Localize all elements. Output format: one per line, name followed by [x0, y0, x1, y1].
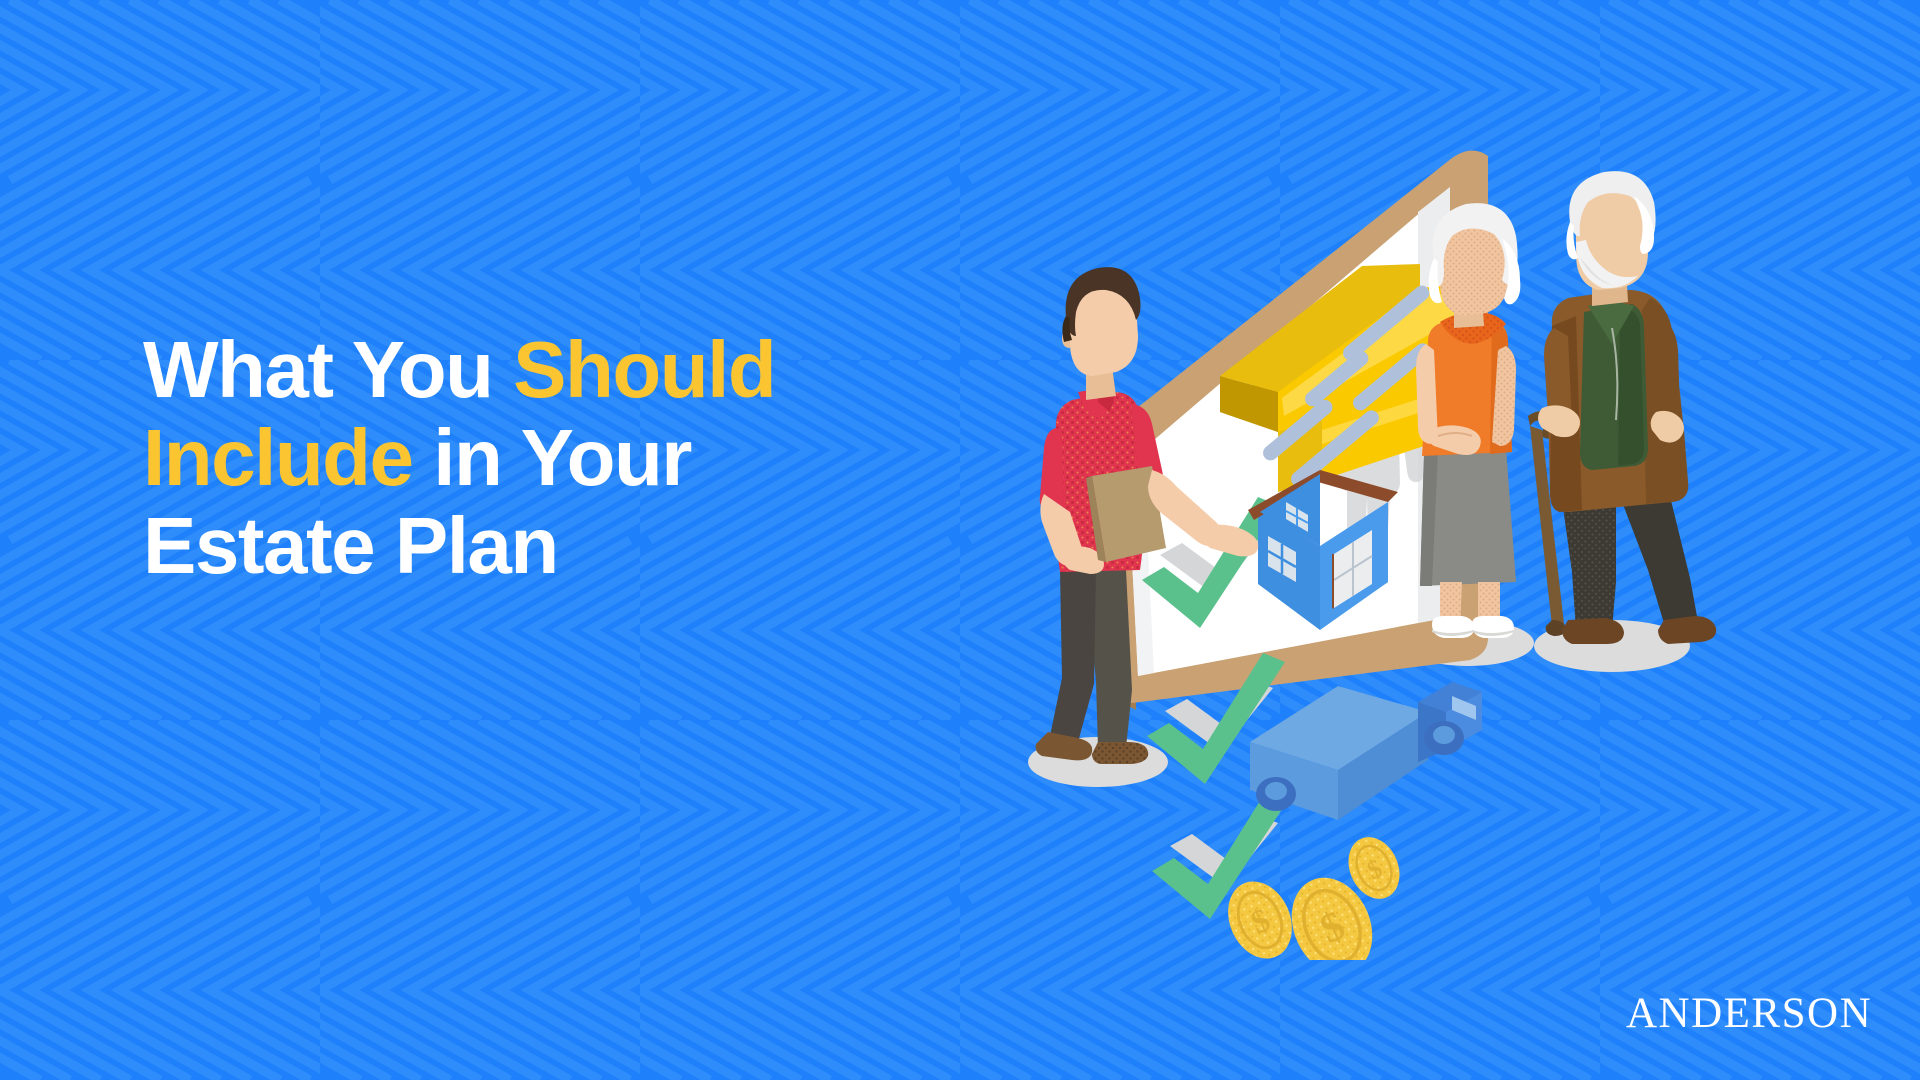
headline-seg-accent: Should — [513, 325, 775, 414]
headline-seg-white: in Your — [413, 413, 691, 502]
headline-seg-white: Estate Plan — [143, 501, 558, 590]
brand-logo: ANDERSON — [1626, 992, 1872, 1035]
headline-line-2: Include in Your — [143, 418, 903, 498]
truck-icon — [1250, 682, 1482, 820]
estate-planning-illustration: $ $ $ — [1020, 130, 1720, 960]
elderly-woman — [1416, 203, 1520, 638]
headline-seg-white: What You — [143, 325, 513, 414]
headline-line-1: What You Should — [143, 330, 903, 410]
headline-line-3: Estate Plan — [143, 506, 903, 586]
elderly-man-with-cane — [1528, 171, 1716, 644]
headline-seg-accent: Include — [143, 413, 413, 502]
page-title: What You Should Include in Your Estate P… — [143, 330, 903, 594]
banner-root: What You Should Include in Your Estate P… — [0, 0, 1920, 1080]
